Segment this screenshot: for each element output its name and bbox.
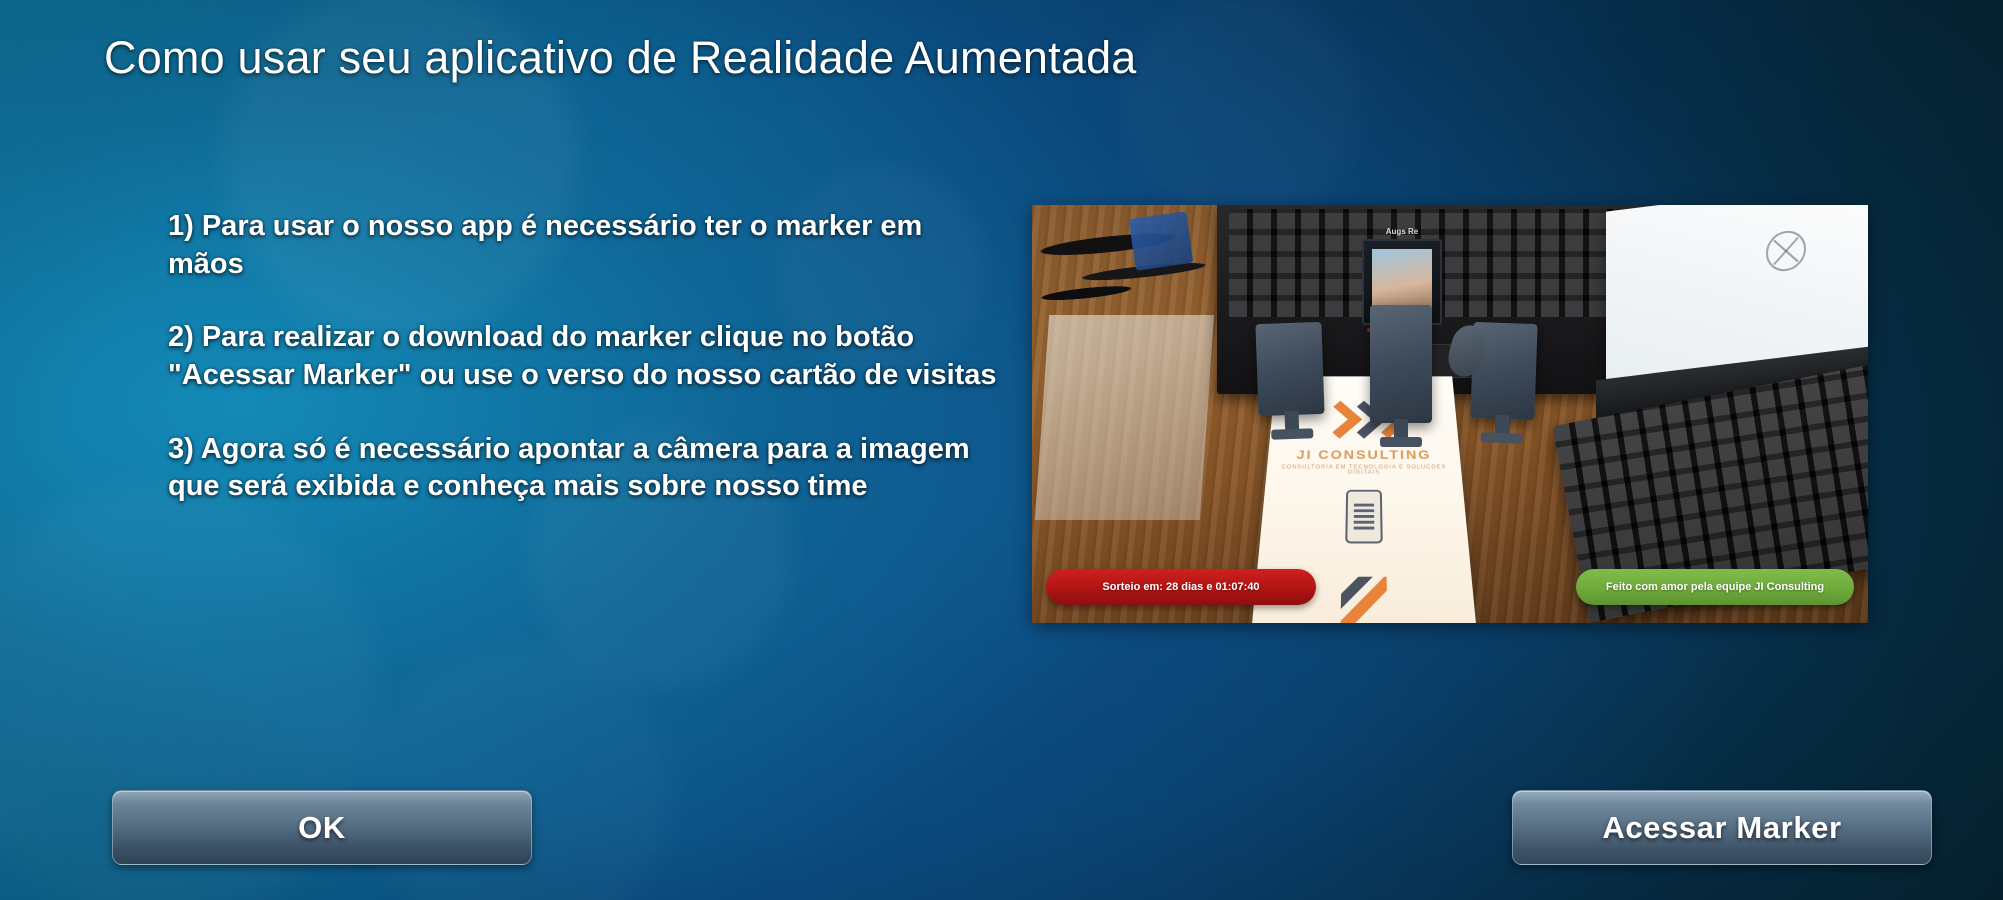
card-footer-logo: [1340, 577, 1387, 623]
credit-badge: Feito com amor pela equipe JI Consulting: [1576, 569, 1854, 605]
instruction-step-3: 3) Agora só é necessário apontar a câmer…: [168, 431, 998, 506]
instruction-step-1: 1) Para usar o nosso app é necessário te…: [168, 208, 998, 283]
ar-object-right-base: [1481, 432, 1523, 443]
instruction-step-2: 2) Para realizar o download do marker cl…: [168, 319, 998, 394]
acessar-marker-button[interactable]: Acessar Marker: [1512, 790, 1932, 865]
phone-illustration-icon: [1345, 490, 1383, 544]
page-title: Como usar seu aplicativo de Realidade Au…: [104, 32, 1137, 84]
ar-object-center-stem: [1394, 419, 1408, 439]
ar-object-center: [1370, 305, 1432, 423]
card-tagline: CONSULTORIA EM TECNOLOGIA E SOLUCOES DIG…: [1266, 465, 1461, 476]
ar-preview-image: JI CONSULTING CONSULTORIA EM TECNOLOGIA …: [1032, 205, 1868, 623]
dialog-screen: Como usar seu aplicativo de Realidade Au…: [0, 0, 2003, 900]
card-brand-name: JI CONSULTING: [1268, 448, 1461, 462]
ar-object-left-base: [1271, 428, 1313, 439]
blue-object: [1129, 211, 1194, 271]
plastic-bag-object: [1035, 315, 1214, 520]
countdown-badge: Sorteio em: 28 dias e 01:07:40: [1046, 569, 1316, 605]
ar-pedestal-label: Augs Re: [1364, 227, 1440, 236]
instructions-list: 1) Para usar o nosso app é necessário te…: [168, 208, 998, 506]
ok-button[interactable]: OK: [112, 790, 532, 865]
ar-object-center-base: [1380, 437, 1422, 447]
ar-object-left: [1255, 322, 1324, 416]
laptop-keyboard: [1229, 209, 1655, 317]
